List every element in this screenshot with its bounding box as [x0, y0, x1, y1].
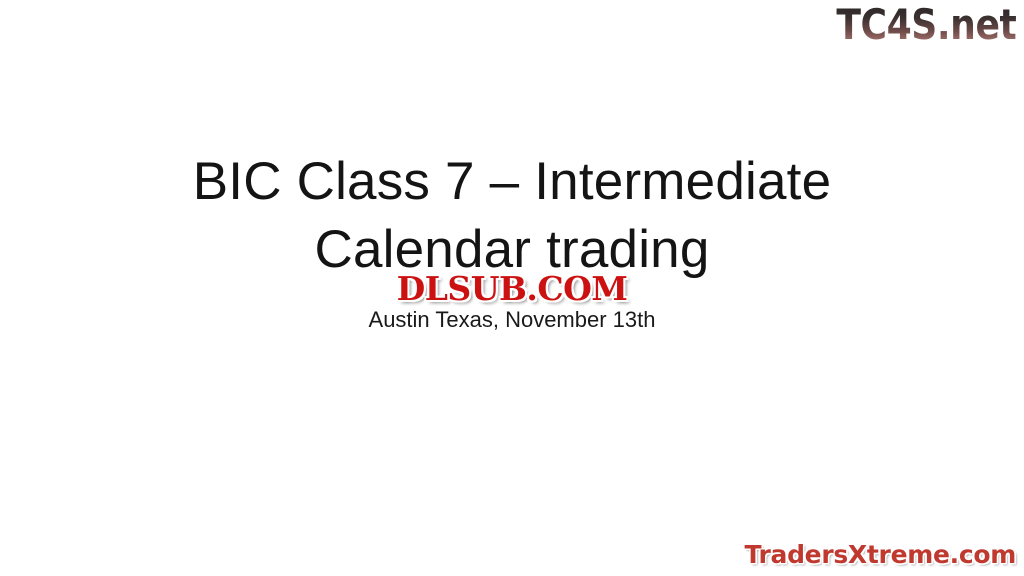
- dlsub-site-watermark: DLSUB.COM: [391, 269, 634, 309]
- tradersxtreme-site-watermark: TradersXtreme.com: [744, 540, 1016, 570]
- presentation-slide: TC4S.net BIC Class 7 – Intermediate Cale…: [0, 0, 1024, 576]
- slide-title-line-1: BIC Class 7 – Intermediate: [0, 148, 1024, 216]
- slide-subtitle: Austin Texas, November 13th: [0, 306, 1024, 334]
- tc4s-site-watermark: TC4S.net: [836, 2, 1016, 48]
- slide-title-block: BIC Class 7 – Intermediate Calendar trad…: [0, 148, 1024, 284]
